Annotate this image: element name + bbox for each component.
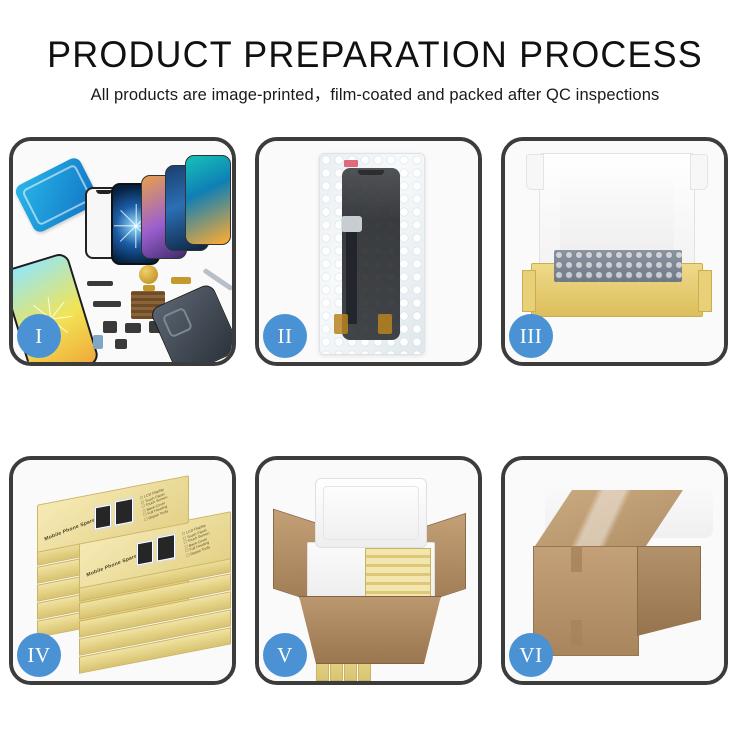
process-step-4: Mobile Phone Spare Parts ☐ LCD Display☐ … xyxy=(9,456,236,685)
bubble-wrap-bag xyxy=(319,153,425,355)
step-badge-6: VI xyxy=(509,633,553,677)
box-checklist: ☐ LCD Display☐ Touch Panel☐ Touch Screen… xyxy=(140,487,171,523)
carton-front-panel xyxy=(533,546,639,656)
carton-side-panel xyxy=(637,546,701,636)
contact-strip-icon xyxy=(143,285,155,291)
step-badge-5: V xyxy=(263,633,307,677)
process-step-1: I xyxy=(9,137,236,366)
gold-connector-icon xyxy=(171,277,191,284)
page-subtitle: All products are image-printed，film-coat… xyxy=(0,84,750,106)
sim-tray-icon xyxy=(125,323,141,333)
step-badge-1: I xyxy=(17,314,61,358)
flex-cable-icon xyxy=(87,281,113,286)
box-checklist: ☐ LCD Display☐ Touch Panel☐ Touch Screen… xyxy=(182,523,213,559)
speaker-module-icon xyxy=(139,265,158,284)
tray-lip-right xyxy=(698,270,712,312)
process-step-grid: I II xyxy=(9,137,741,735)
process-step-2: II xyxy=(255,137,482,366)
box-phone-image-2 xyxy=(156,533,176,563)
gray-bubble-wrap-fill xyxy=(554,250,682,282)
adhesive-tab-right xyxy=(378,314,392,334)
carton-front-panel xyxy=(299,596,441,664)
box-phone-image-1 xyxy=(94,503,112,530)
qc-label-sticker xyxy=(344,160,358,167)
kraft-box-tray xyxy=(531,263,703,317)
page-title: PRODUCT PREPARATION PROCESS xyxy=(11,33,739,77)
process-step-6: VI xyxy=(501,456,728,685)
adhesive-tab-left xyxy=(334,314,348,334)
tray-lip-left xyxy=(522,270,536,312)
packed-yellow-box-group xyxy=(365,548,431,598)
process-step-3: III xyxy=(501,137,728,366)
screw-set-icon xyxy=(115,339,127,349)
phone-display-teal xyxy=(185,155,231,245)
step-badge-2: II xyxy=(263,314,307,358)
screen-flex-cable xyxy=(346,228,357,324)
packing-tape-lower xyxy=(571,620,582,646)
product-preparation-infographic: PRODUCT PREPARATION PROCESS All products… xyxy=(0,0,750,750)
process-step-5: V xyxy=(255,456,482,685)
antenna-cable-icon xyxy=(93,301,121,307)
foam-box-lid xyxy=(315,478,427,548)
step-badge-4: IV xyxy=(17,633,61,677)
packing-tape-upper xyxy=(571,546,582,572)
battery-connector-icon xyxy=(93,335,103,349)
step-badge-3: III xyxy=(509,314,553,358)
foam-sheet xyxy=(560,180,674,254)
vibrator-icon xyxy=(103,321,117,333)
box-phone-image-2 xyxy=(114,497,134,527)
box-phone-image-1 xyxy=(136,539,154,566)
